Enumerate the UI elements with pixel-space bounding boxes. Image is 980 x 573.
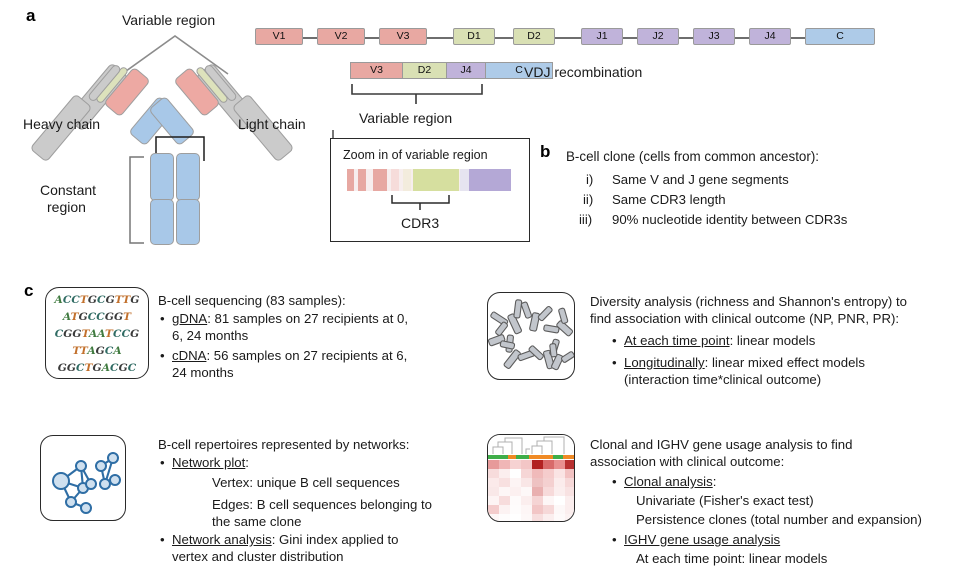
- heatmap-cell: [543, 487, 554, 496]
- sequencing-bullet-2-dot: •: [160, 348, 165, 365]
- annotation-orange: [529, 455, 553, 459]
- cdna-label: cDNA: [172, 348, 206, 363]
- heatmap-cell: [510, 496, 521, 505]
- gene-segment-j3: J3: [693, 28, 735, 45]
- sequencing-bullet-2: cDNA: 56 samples on 27 recipients at 6,: [172, 348, 407, 365]
- sequencing-bullet-1-line2: 6, 24 months: [172, 328, 248, 345]
- cdr3-brace: [389, 193, 459, 213]
- annotation-orange: [563, 455, 575, 459]
- network-graph-icon: [41, 436, 126, 521]
- sequencing-heading: B-cell sequencing (83 samples):: [158, 293, 346, 310]
- heatmap-cell: [510, 505, 521, 514]
- heatmap-cell: [532, 469, 543, 478]
- heatmap-cell: [543, 478, 554, 487]
- heatmap-cell: [521, 460, 532, 469]
- segment-connector: [623, 37, 637, 39]
- dendrogram-icon: [488, 435, 575, 455]
- diversity-heading-line1: Diversity analysis (richness and Shannon…: [590, 294, 907, 311]
- recombined-segment-j4: J4: [446, 62, 486, 79]
- panel-b-item-iii: 90% nucleotide identity between CDR3s: [612, 212, 847, 229]
- heatmap-cell: [532, 505, 543, 514]
- gene-segment-d2: D2: [513, 28, 555, 45]
- clonal-heading-line1: Clonal and IGHV gene usage analysis to f…: [590, 437, 852, 454]
- heatmap-cell: [510, 514, 521, 522]
- heatmap-cell: [554, 460, 565, 469]
- segment-connector: [555, 37, 581, 39]
- network-analysis-label: Network analysis: [172, 532, 272, 547]
- label-variable-region-mid: Variable region: [359, 110, 452, 127]
- network-bullet-2-dot: •: [160, 532, 165, 549]
- gdna-text: : 81 samples on 27 recipients at 0,: [207, 311, 408, 326]
- recombined-segment-d2: D2: [402, 62, 447, 79]
- panel-b-heading: B-cell clone (cells from common ancestor…: [566, 149, 819, 166]
- diversity-bullet-2: Longitudinally: linear mixed effect mode…: [624, 355, 865, 372]
- segment-connector: [427, 37, 453, 39]
- gene-segment-v2: V2: [317, 28, 365, 45]
- heatmap-cell: [521, 514, 532, 522]
- cdr3-stripe: [403, 169, 411, 191]
- cdr3-stripe: [413, 169, 459, 191]
- gdna-label: gDNA: [172, 311, 207, 326]
- heatmap-cell: [521, 505, 532, 514]
- heatmap-cell: [565, 487, 575, 496]
- heatmap-cell: [565, 496, 575, 505]
- heatmap-cell: [499, 505, 510, 514]
- diversity-bullet-1-dot: •: [612, 333, 617, 350]
- heatmap-cell: [532, 478, 543, 487]
- heatmap-cell: [510, 487, 521, 496]
- label-cdr3: CDR3: [401, 215, 439, 232]
- cdr3-stripe: [391, 169, 399, 191]
- heatmap-cell: [521, 496, 532, 505]
- heatmap-cell: [499, 514, 510, 522]
- cdna-text: : 56 samples on 27 recipients at 6,: [206, 348, 407, 363]
- heatmap-cell: [543, 469, 554, 478]
- antibody-fc-right-upper: [176, 153, 200, 201]
- heatmap-cell: [565, 505, 575, 514]
- gene-segment-j1: J1: [581, 28, 623, 45]
- gene-segment-j2: J2: [637, 28, 679, 45]
- annotation-green: [553, 455, 563, 459]
- heatmap-cell: [565, 469, 575, 478]
- label-constant-region-line2: region: [47, 199, 86, 216]
- segment-connector: [791, 37, 805, 39]
- segment-connector: [735, 37, 749, 39]
- heatmap-cell: [499, 496, 510, 505]
- panel-letter-c: c: [24, 281, 33, 301]
- longitudinally-label: Longitudinally: [624, 355, 705, 370]
- heatmap-cell: [565, 478, 575, 487]
- network-sub-1: Vertex: unique B cell sequences: [212, 475, 400, 492]
- sequencing-bullet-1-dot: •: [160, 311, 165, 328]
- gene-segment-v1: V1: [255, 28, 303, 45]
- clonal-analysis-suffix: :: [713, 474, 717, 489]
- heatmap-cell: [499, 460, 510, 469]
- antibody-fc-right-lower: [176, 199, 200, 245]
- sequencing-bullet-2-line2: 24 months: [172, 365, 234, 382]
- dna-sequence-box: ACCTGCGTTG ATGCCGGT CGGTAATCCG TTAGCA GG…: [45, 287, 149, 379]
- heatmap-cell: [532, 496, 543, 505]
- heatmap-cell: [532, 514, 543, 522]
- gene-segment-c: C: [805, 28, 875, 45]
- heatmap-cell: [510, 460, 521, 469]
- panel-b-marker-i: i): [586, 172, 593, 189]
- panel-b-item-ii: Same CDR3 length: [612, 192, 726, 209]
- heatmap-cell: [488, 478, 499, 487]
- network-bullet-1-dot: •: [160, 455, 165, 472]
- dna-sequence-line: CGGTAATCCG: [46, 328, 148, 340]
- segment-connector: [679, 37, 693, 39]
- heatmap-cell: [532, 460, 543, 469]
- antibody-diagram: [20, 55, 340, 265]
- heatmap-cell: [543, 514, 554, 522]
- diversity-bullet-1: At each time point: linear models: [624, 333, 815, 350]
- variable-region-brace: [346, 82, 498, 108]
- heatmap-cell: [554, 505, 565, 514]
- recombined-segment-v3: V3: [350, 62, 403, 79]
- heatmap-grid: [488, 460, 575, 522]
- network-bullet-1: Network plot:: [172, 455, 249, 472]
- panel-b-marker-ii: ii): [583, 192, 593, 209]
- heatmap-cell: [488, 469, 499, 478]
- network-heading: B-cell repertoires represented by networ…: [158, 437, 409, 454]
- heatmap-cell: [499, 487, 510, 496]
- label-constant-region-line1: Constant: [40, 182, 96, 199]
- clonal-bullet-2-dot: •: [612, 532, 617, 549]
- constant-region-bracket: [124, 155, 148, 247]
- heatmap-cell: [510, 478, 521, 487]
- heatmap-cell: [521, 469, 532, 478]
- gene-segment-j4: J4: [749, 28, 791, 45]
- label-light-chain: Light chain: [238, 116, 306, 133]
- clonal-bullet-1-dot: •: [612, 474, 617, 491]
- heatmap-cell: [499, 478, 510, 487]
- network-plot-suffix: :: [245, 455, 249, 470]
- cdr3-stripe: [460, 169, 469, 191]
- segment-connector: [303, 37, 317, 39]
- heatmap-dendrogram: [488, 435, 575, 455]
- heatmap-cell: [488, 496, 499, 505]
- label-variable-region-top: Variable region: [122, 12, 215, 29]
- at-each-time-point-text: : linear models: [730, 333, 816, 348]
- diversity-bullet-2-line2: (interaction time*clinical outcome): [624, 372, 821, 389]
- cdr3-color-bar: [347, 169, 511, 191]
- sequencing-bullet-1: gDNA: 81 samples on 27 recipients at 0,: [172, 311, 408, 328]
- annotation-green: [516, 455, 529, 459]
- clonal-sub-3: At each time point: linear models: [636, 551, 827, 568]
- heatmap-cell: [499, 469, 510, 478]
- heatmap-cell: [554, 478, 565, 487]
- clonal-bullet-2: IGHV gene usage analysis: [624, 532, 780, 549]
- network-bullet-2: Network analysis: Gini index applied to: [172, 532, 399, 549]
- cdr3-stripe: [347, 169, 354, 191]
- network-sub-2-line2: the same clone: [212, 514, 301, 531]
- heatmap-cell: [554, 487, 565, 496]
- clonal-sub-1: Univariate (Fisher's exact test): [636, 493, 814, 510]
- network-bullet-2-line2: vertex and cluster distribution: [172, 549, 344, 566]
- ighv-gene-usage-label: IGHV gene usage analysis: [624, 532, 780, 547]
- network-sub-2-line1: Edges: B cell sequences belonging to: [212, 497, 432, 514]
- network-plot-label: Network plot: [172, 455, 245, 470]
- diversity-bullet-2-dot: •: [612, 355, 617, 372]
- gene-segment-v3: V3: [379, 28, 427, 45]
- germline-segment-map: V1 V2 V3 D1 D2 J1 J2 J3 J4 C: [255, 10, 955, 40]
- zoom-in-variable-region-box: Zoom in of variable region CDR3: [330, 138, 530, 242]
- heatmap-cell: [565, 460, 575, 469]
- clonal-sub-2: Persistence clones (total number and exp…: [636, 512, 922, 529]
- heatmap-cell: [543, 460, 554, 469]
- cdr3-stripe: [358, 169, 366, 191]
- diversity-heading-line2: find association with clinical outcome (…: [590, 311, 899, 328]
- panel-letter-a: a: [26, 6, 35, 26]
- label-vdj-recombination: VDJ recombination: [524, 64, 642, 81]
- heatmap-cell: [554, 496, 565, 505]
- cdr3-stripe: [373, 169, 387, 191]
- heatmap-cell: [565, 514, 575, 522]
- network-analysis-text: : Gini index applied to: [272, 532, 399, 547]
- clonal-analysis-label: Clonal analysis: [624, 474, 713, 489]
- dna-sequence-line: GGCTGACGC: [46, 362, 148, 374]
- heatmap-cell: [521, 478, 532, 487]
- at-each-time-point-label: At each time point: [624, 333, 730, 348]
- longitudinally-text: : linear mixed effect models: [705, 355, 865, 370]
- segment-connector: [365, 37, 379, 39]
- annotation-orange: [508, 455, 516, 459]
- heatmap-cell: [488, 487, 499, 496]
- heatmap-cell: [554, 469, 565, 478]
- clonal-bullet-1: Clonal analysis:: [624, 474, 716, 491]
- cdr3-stripe: [469, 169, 511, 191]
- antibodies-icon: [488, 293, 575, 380]
- annotation-green: [488, 455, 508, 459]
- dna-sequence-line: ACCTGCGTTG: [46, 294, 148, 306]
- heatmap-cell: [510, 469, 521, 478]
- heatmap-cell: [532, 487, 543, 496]
- heatmap-cell: [488, 505, 499, 514]
- dna-sequence-line: ATGCCGGT: [46, 311, 148, 323]
- heatmap-cell: [554, 514, 565, 522]
- heatmap-cell: [521, 487, 532, 496]
- panel-b-marker-iii: iii): [579, 212, 592, 229]
- antibody-fc-left-upper: [150, 153, 174, 201]
- heatmap-cell: [543, 496, 554, 505]
- heatmap-cell: [488, 460, 499, 469]
- antibody-fc-left-lower: [150, 199, 174, 245]
- dna-sequence-line: TTAGCA: [46, 345, 148, 357]
- heatmap-cell: [488, 514, 499, 522]
- clonal-heading-line2: association with clinical outcome:: [590, 454, 784, 471]
- panel-letter-b: b: [540, 142, 550, 162]
- panel-b-item-i: Same V and J gene segments: [612, 172, 789, 189]
- heatmap-cell: [543, 505, 554, 514]
- label-heavy-chain: Heavy chain: [23, 116, 100, 133]
- segment-connector: [495, 37, 513, 39]
- gene-segment-d1: D1: [453, 28, 495, 45]
- network-plot-thumbnail: [40, 435, 126, 521]
- zoom-box-title: Zoom in of variable region: [343, 147, 488, 164]
- heatmap-thumbnail: [487, 434, 575, 522]
- antibodies-thumbnail: [487, 292, 575, 380]
